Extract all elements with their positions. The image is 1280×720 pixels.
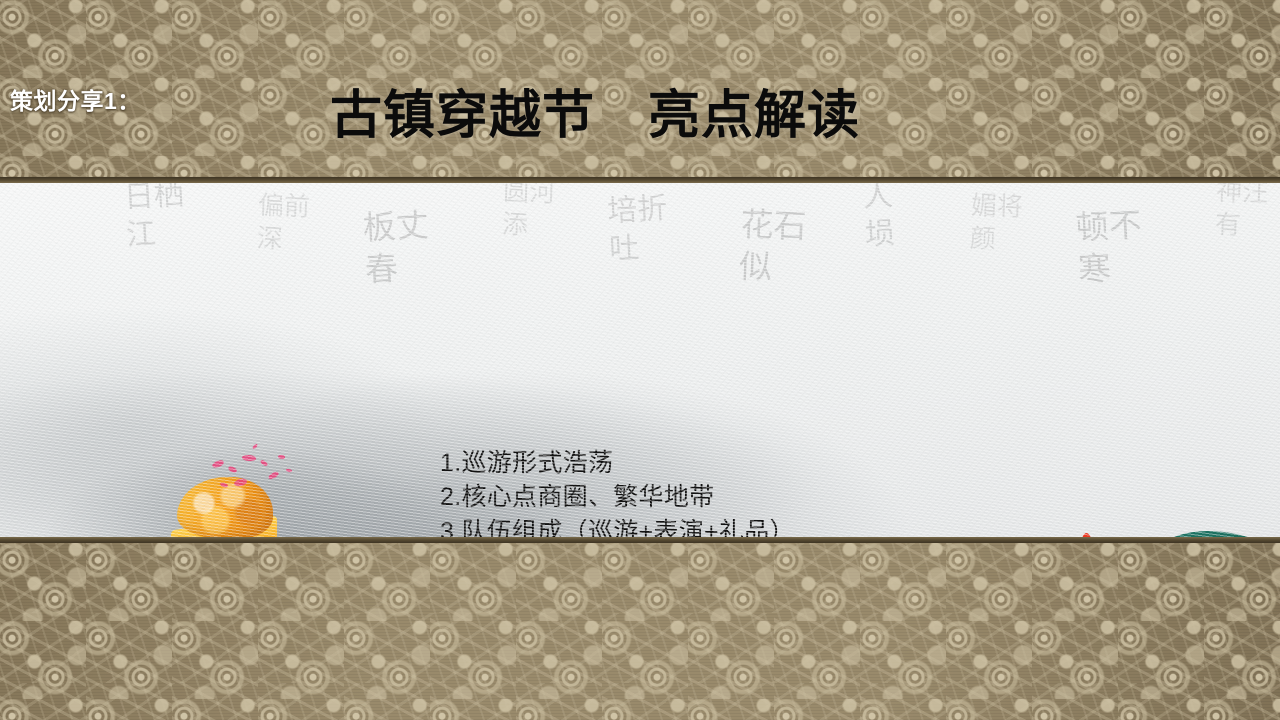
calligraphy-column: 培折吐 <box>606 189 697 449</box>
highlight-item: 1.巡游形式浩荡 <box>440 446 795 480</box>
calligraphy-column: 神汪有 <box>1208 183 1280 448</box>
calligraphy-watermark: 日栖江偏前深板丈春圆河添培折吐花石似人埙媚将颜顿不寒神汪有 <box>130 183 1280 447</box>
share-label: 策划分享1： <box>10 82 141 116</box>
page-title: 古镇穿越节 亮点解读 <box>330 73 860 148</box>
calligraphy-column: 顿不寒 <box>1074 203 1172 449</box>
petal-flake <box>252 443 259 449</box>
petal-flake <box>211 459 224 468</box>
calligraphy-column: 人埙 <box>862 183 928 448</box>
calligraphy-column: 日栖江 <box>123 183 215 449</box>
highlights-list: 1.巡游形式浩荡2.核心点商圈、繁华地带3.队伍组成（巡游+表演+礼品）4.内场… <box>440 446 795 537</box>
calligraphy-column: 圆河添 <box>495 183 572 448</box>
highlight-item: 2.核心点商圈、繁华地带 <box>440 480 795 514</box>
header-bar: 策划分享1： 古镇穿越节 亮点解读 <box>0 0 1280 180</box>
highlight-item: 3.队伍组成（巡游+表演+礼品） <box>440 515 795 538</box>
lotus-flower <box>1036 529 1136 537</box>
highlights-ordered-list: 1.巡游形式浩荡2.核心点商圈、繁华地带3.队伍组成（巡游+表演+礼品）4.内场… <box>440 446 795 537</box>
carved-jade-seal <box>155 471 300 537</box>
petal-flake <box>242 454 257 462</box>
bottom-damask-band <box>0 543 1280 720</box>
calligraphy-column: 花石似 <box>733 204 827 449</box>
petal-flake <box>260 459 269 467</box>
content-panel: 日栖江偏前深板丈春圆河添培折吐花石似人埙媚将颜顿不寒神汪有 1.巡游形式浩荡2.… <box>0 183 1280 537</box>
red-lotus-cluster <box>980 503 1280 537</box>
calligraphy-column: 板丈春 <box>361 203 459 449</box>
calligraphy-column: 偏前深 <box>250 190 327 448</box>
slide-canvas: 策划分享1： 古镇穿越节 亮点解读 日栖江偏前深板丈春圆河添培折吐花石似人埙媚将… <box>0 0 1280 720</box>
calligraphy-column: 媚将颜 <box>962 190 1039 448</box>
petal-flake <box>278 454 286 459</box>
